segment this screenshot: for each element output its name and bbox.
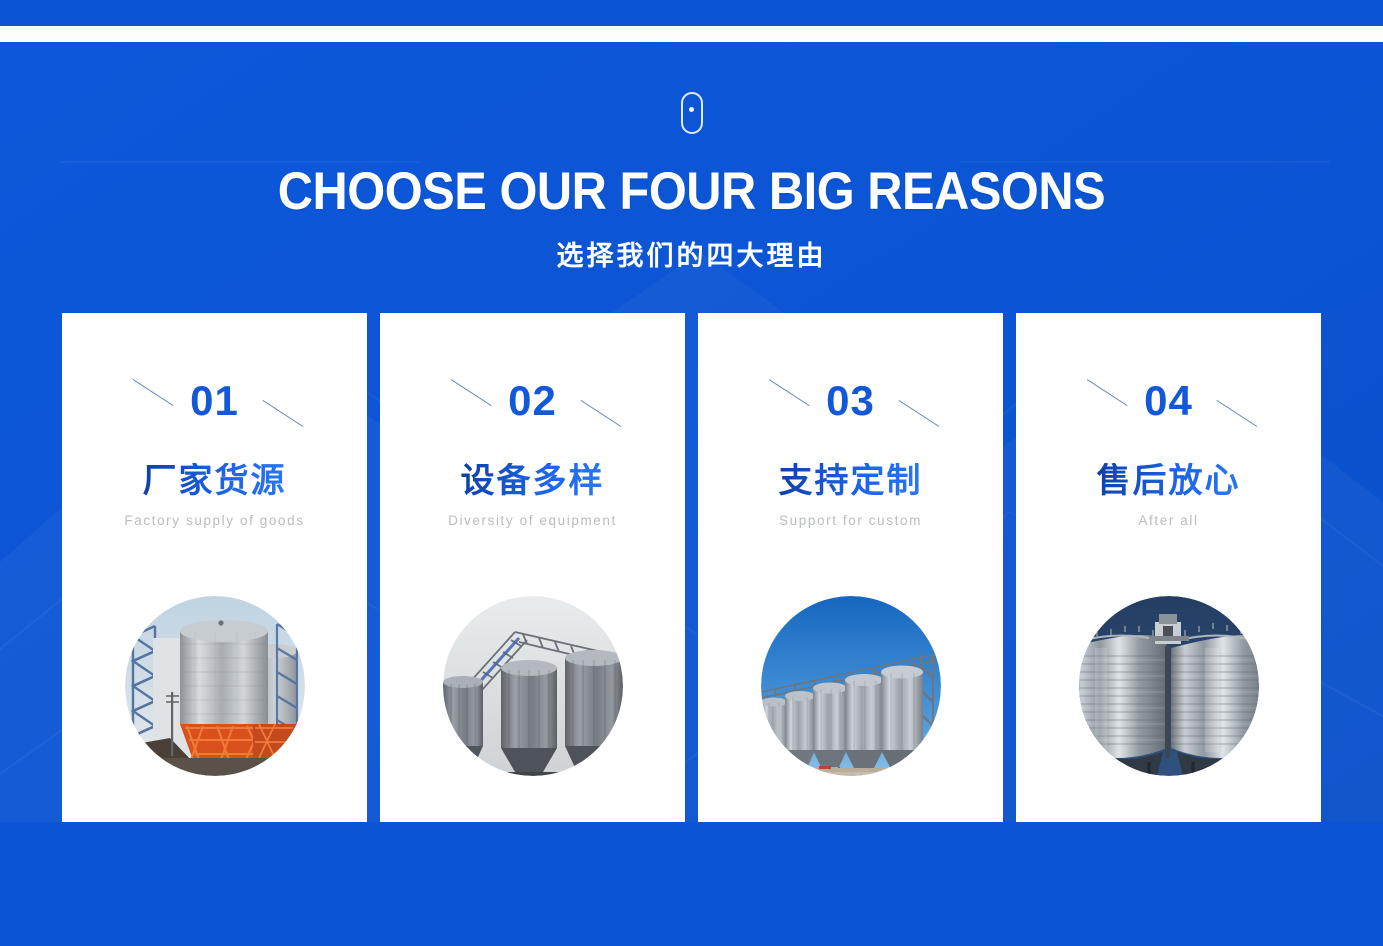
silo-row-blue-sky-photo (761, 596, 941, 776)
diagonal-stroke-top-left-icon (450, 379, 491, 406)
hero-header: CHOOSE OUR FOUR BIG REASONS 选择我们的四大理由 (0, 42, 1383, 273)
card-number-block: 01 (125, 373, 305, 429)
capsule-dot-icon (681, 92, 703, 134)
diagonal-stroke-top-left-icon (768, 379, 809, 406)
twin-corrugated-silos-photo (1079, 596, 1259, 776)
card-en-title: Diversity of equipment (448, 511, 617, 531)
top-blue-band (0, 0, 1383, 26)
card-cn-title: 设备多样 (461, 463, 605, 500)
card-number-block: 02 (443, 373, 623, 429)
card-number-block: 04 (1079, 373, 1259, 429)
diagonal-stroke-top-left-icon (132, 379, 173, 406)
top-white-separator (0, 26, 1383, 42)
steel-silo-orange-base-photo (125, 596, 305, 776)
page-subtitle: 选择我们的四大理由 (0, 234, 1383, 273)
reason-card-list: 01 厂家货源 Factory supply of goods (62, 313, 1321, 822)
diagonal-stroke-bottom-right-icon (262, 400, 303, 427)
card-number: 04 (1144, 380, 1193, 422)
card-en-title: After all (1138, 511, 1198, 531)
diagonal-stroke-bottom-right-icon (580, 400, 621, 427)
card-cn-title: 支持定制 (779, 463, 923, 500)
card-en-title: Support for custom (779, 511, 922, 531)
page-title: CHOOSE OUR FOUR BIG REASONS (55, 164, 1327, 220)
card-number: 01 (190, 380, 239, 422)
card-number-block: 03 (761, 373, 941, 429)
bottom-blue-fill (0, 822, 1383, 946)
diagonal-stroke-bottom-right-icon (898, 400, 939, 427)
reason-card-01[interactable]: 01 厂家货源 Factory supply of goods (62, 313, 367, 822)
card-cn-title: 售后放心 (1097, 463, 1241, 500)
card-number: 02 (508, 380, 557, 422)
card-number: 03 (826, 380, 875, 422)
reason-card-02[interactable]: 02 设备多样 Diversity of equipment (380, 313, 685, 822)
card-cn-title: 厂家货源 (143, 463, 287, 500)
diagonal-stroke-bottom-right-icon (1216, 400, 1257, 427)
reason-card-04[interactable]: 04 售后放心 After all (1016, 313, 1321, 822)
diagonal-stroke-top-left-icon (1086, 379, 1127, 406)
gray-silos-conveyor-photo (443, 596, 623, 776)
card-en-title: Factory supply of goods (124, 511, 304, 531)
promo-page: CHOOSE OUR FOUR BIG REASONS 选择我们的四大理由 01… (0, 0, 1383, 946)
reason-card-03[interactable]: 03 支持定制 Support for custom (698, 313, 1003, 822)
